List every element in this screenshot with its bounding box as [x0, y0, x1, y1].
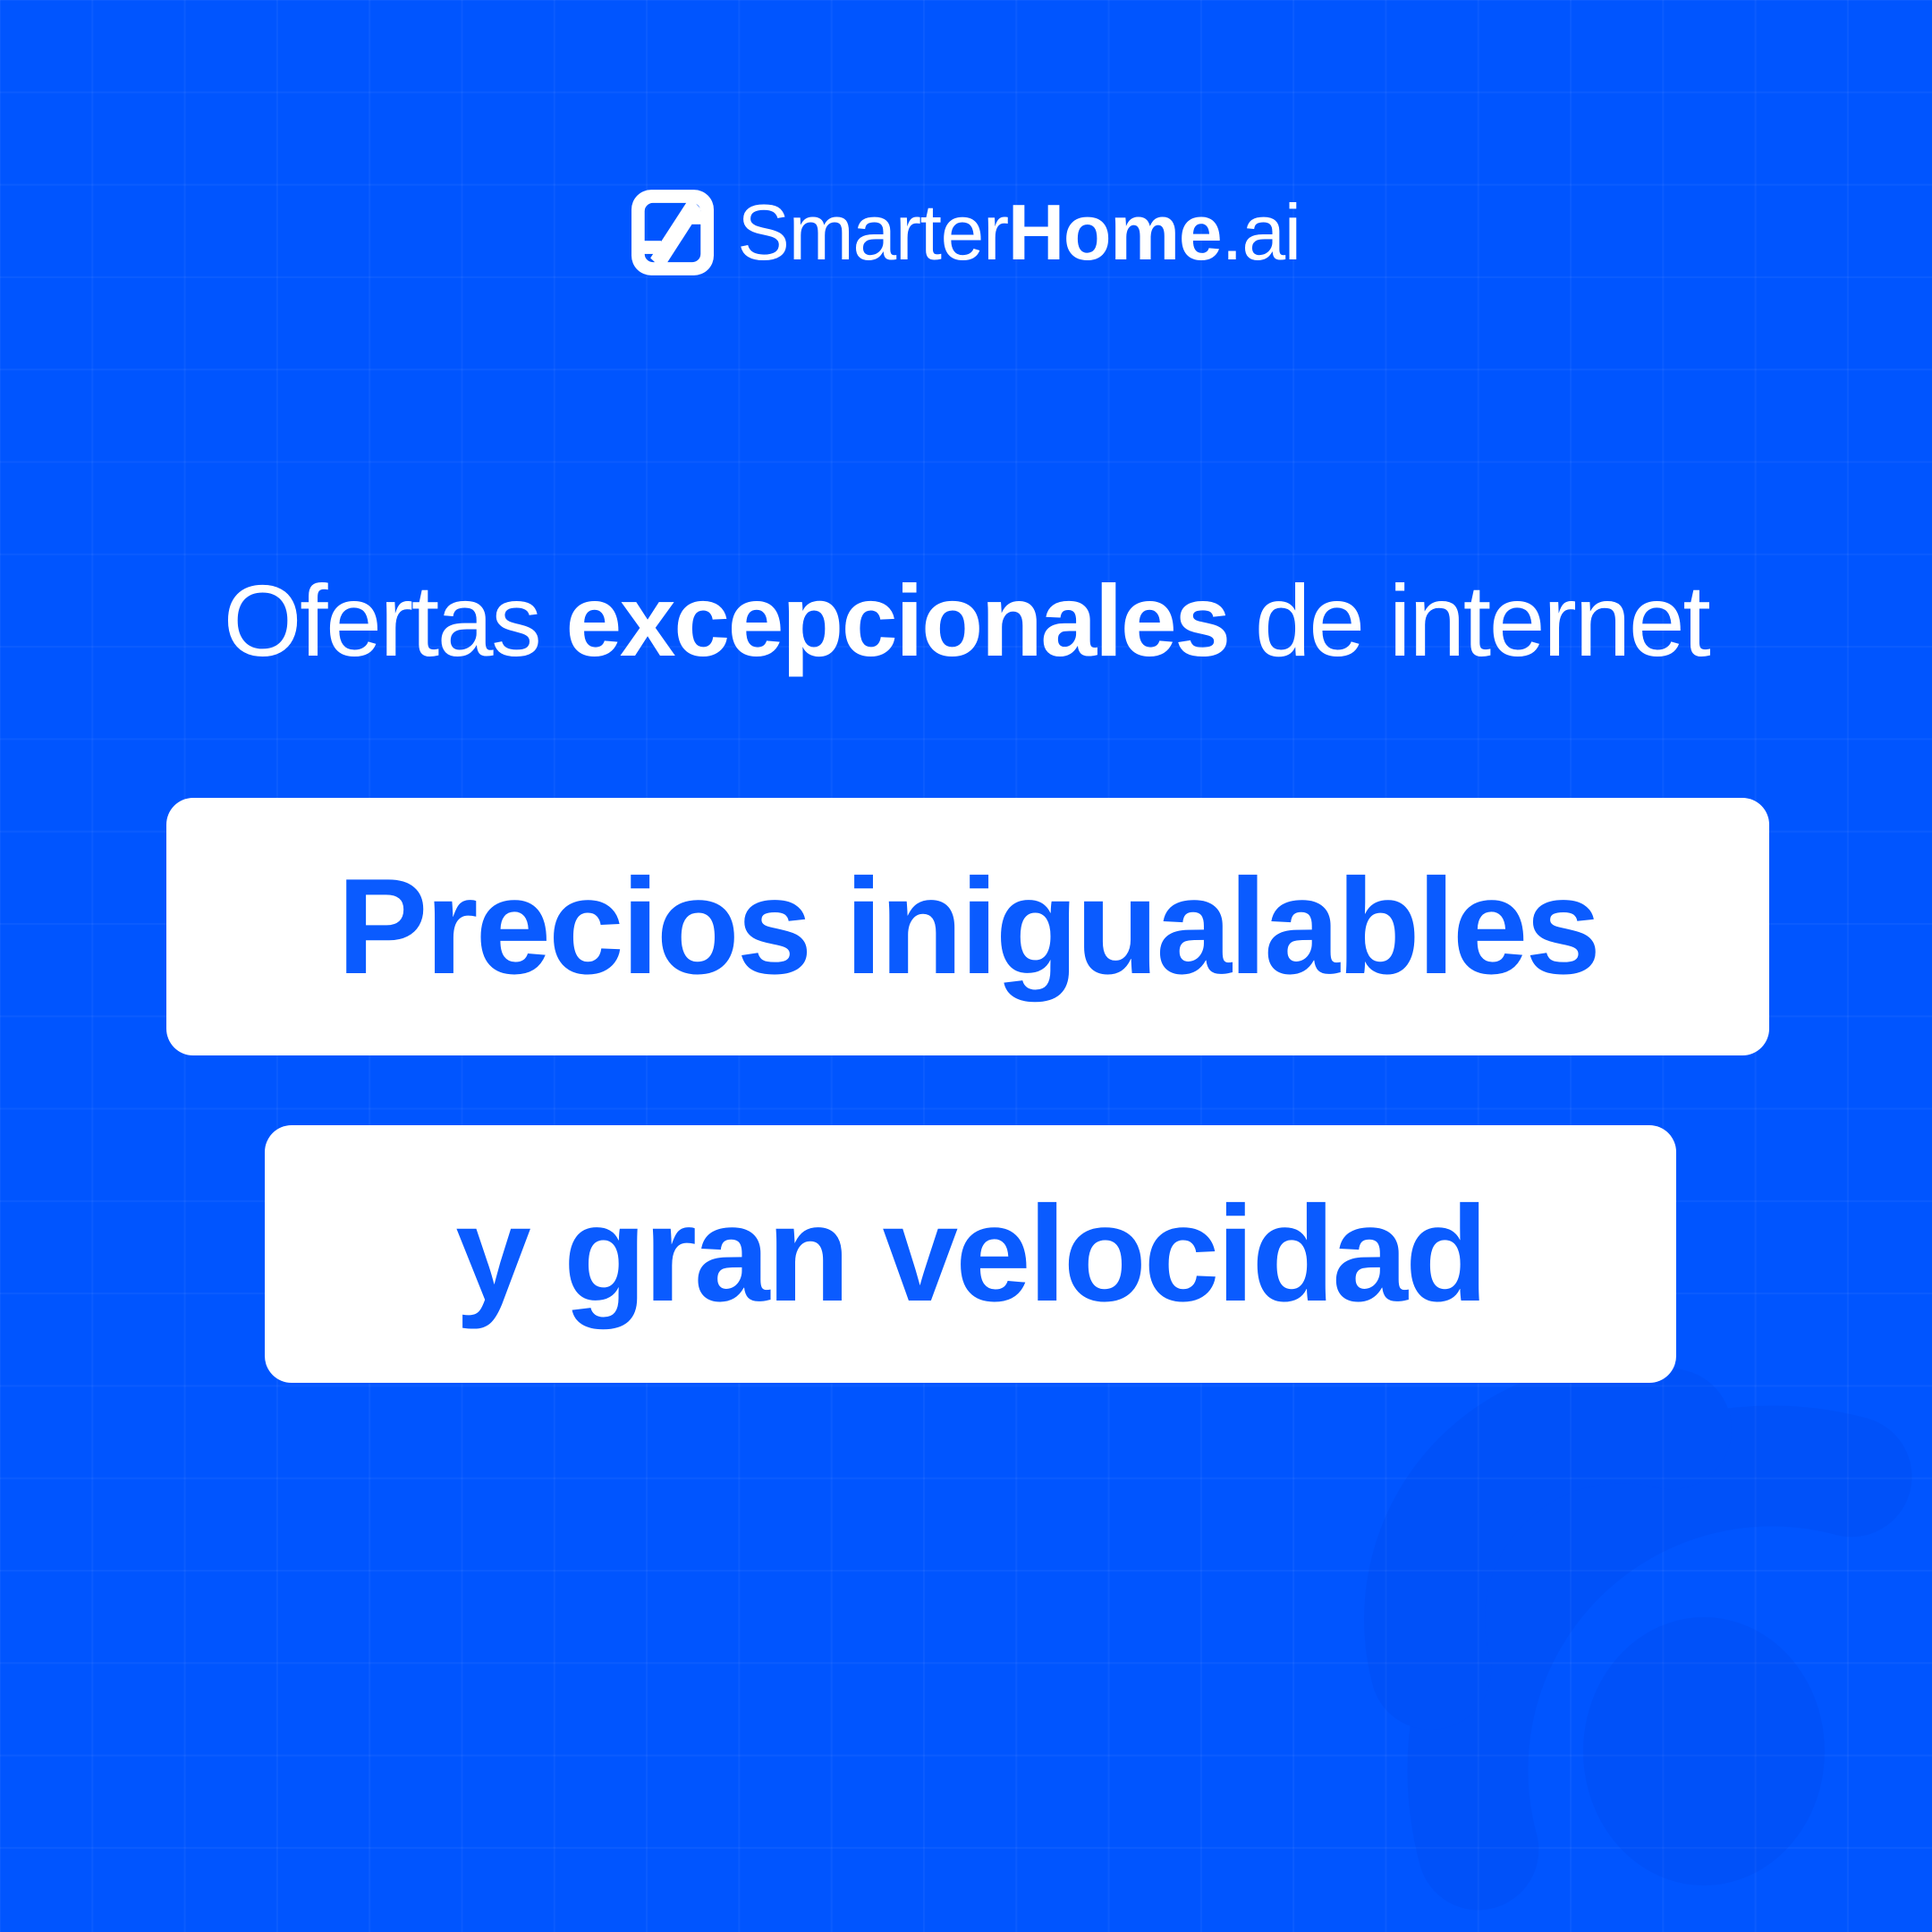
brand-logo: SmarterHome.ai — [0, 190, 1932, 275]
highlight-box-precios: Precios inigualables — [166, 798, 1769, 1055]
brand-name-bold: Home — [1008, 188, 1222, 276]
promo-banner: SmarterHome.ai Ofertas excepcionales de … — [0, 0, 1932, 1932]
brand-wordmark: SmarterHome.ai — [737, 193, 1300, 272]
page-title: Ofertas excepcionales de internet — [0, 562, 1932, 681]
highlight-box-velocidad-label: y gran velocidad — [455, 1186, 1486, 1322]
headline-part-2-bold: excepcionales — [565, 564, 1228, 677]
brand-name-suffix: .ai — [1221, 188, 1300, 276]
headline-part-3: de internet — [1229, 564, 1709, 677]
brand-name-light: Smarter — [737, 188, 1007, 276]
highlight-box-precios-label: Precios inigualables — [337, 859, 1598, 995]
headline-part-1: Ofertas — [224, 564, 566, 677]
smarterhome-monogram-icon — [631, 190, 714, 275]
highlight-box-velocidad: y gran velocidad — [265, 1125, 1676, 1383]
